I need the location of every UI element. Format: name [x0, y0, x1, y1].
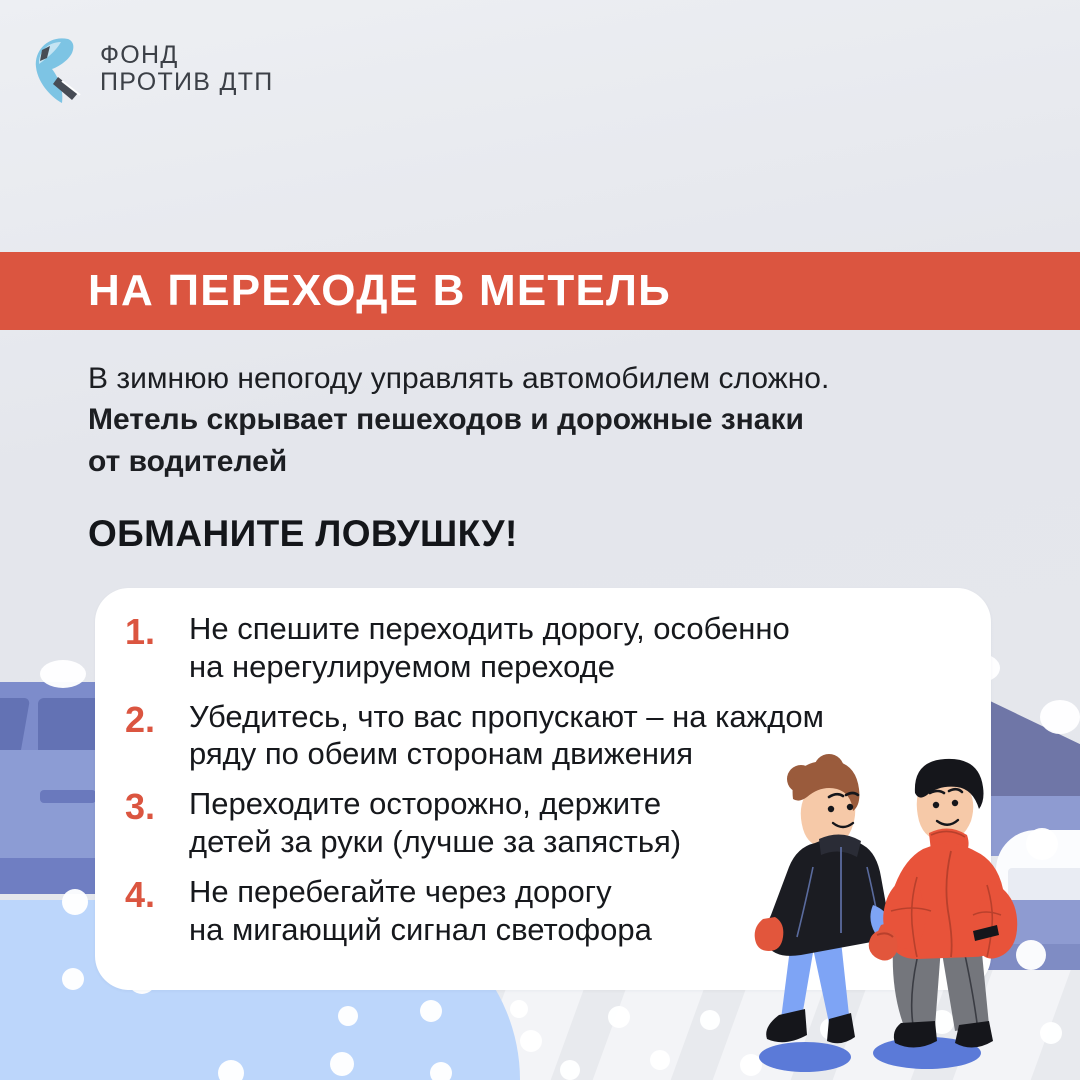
intro-line-bold-2: от водителей — [88, 441, 968, 482]
snowflake — [430, 1062, 452, 1080]
intro-paragraph: В зимнюю непогоду управлять автомобилем … — [88, 358, 968, 482]
snowflake — [62, 968, 84, 990]
snowflake — [338, 1006, 358, 1026]
title-banner: НА ПЕРЕХОДЕ В МЕТЕЛЬ — [0, 252, 1080, 330]
snowflake — [1040, 700, 1080, 734]
snowflake — [520, 1030, 542, 1052]
snowflake — [510, 1000, 528, 1018]
page-title: НА ПЕРЕХОДЕ В МЕТЕЛЬ — [0, 266, 671, 316]
tip-number: 4. — [121, 873, 189, 917]
brand-line-2: ПРОТИВ ДТП — [100, 69, 274, 96]
subheading: ОБМАНИТЕ ЛОВУШКУ! — [88, 513, 518, 555]
poster-canvas: ФОНД ПРОТИВ ДТП НА ПЕРЕХОДЕ В МЕТЕЛЬ В з… — [0, 0, 1080, 1080]
tip-number: 1. — [121, 610, 189, 654]
brand-logo: ФОНД ПРОТИВ ДТП — [28, 24, 288, 114]
tip-text: Не спешите переходить дорогу, особенно н… — [189, 610, 951, 686]
snowflake — [700, 1010, 720, 1030]
intro-line-normal: В зимнюю непогоду управлять автомобилем … — [88, 358, 968, 399]
intro-line-bold-1: Метель скрывает пешеходов и дорожные зна… — [88, 399, 968, 440]
brand-line-1: ФОНД — [100, 42, 274, 69]
snowflake — [650, 1050, 670, 1070]
tip-number: 3. — [121, 785, 189, 829]
snowflake — [420, 1000, 442, 1022]
foot-shadow — [759, 1042, 851, 1072]
snowflake — [218, 1060, 244, 1080]
brand-wordmark: ФОНД ПРОТИВ ДТП — [100, 42, 274, 96]
tip-number: 2. — [121, 698, 189, 742]
list-item: 1. Не спешите переходить дорогу, особенн… — [121, 610, 951, 686]
snowflake — [62, 889, 88, 915]
ribbon-road-icon — [28, 33, 86, 105]
snowflake — [330, 1052, 354, 1076]
pedestrians-illustration — [745, 735, 1045, 1080]
snowflake — [40, 660, 86, 688]
walking-man — [869, 759, 1017, 1048]
snowflake — [560, 1060, 580, 1080]
walking-woman — [755, 754, 909, 1043]
snowflake — [608, 1006, 630, 1028]
